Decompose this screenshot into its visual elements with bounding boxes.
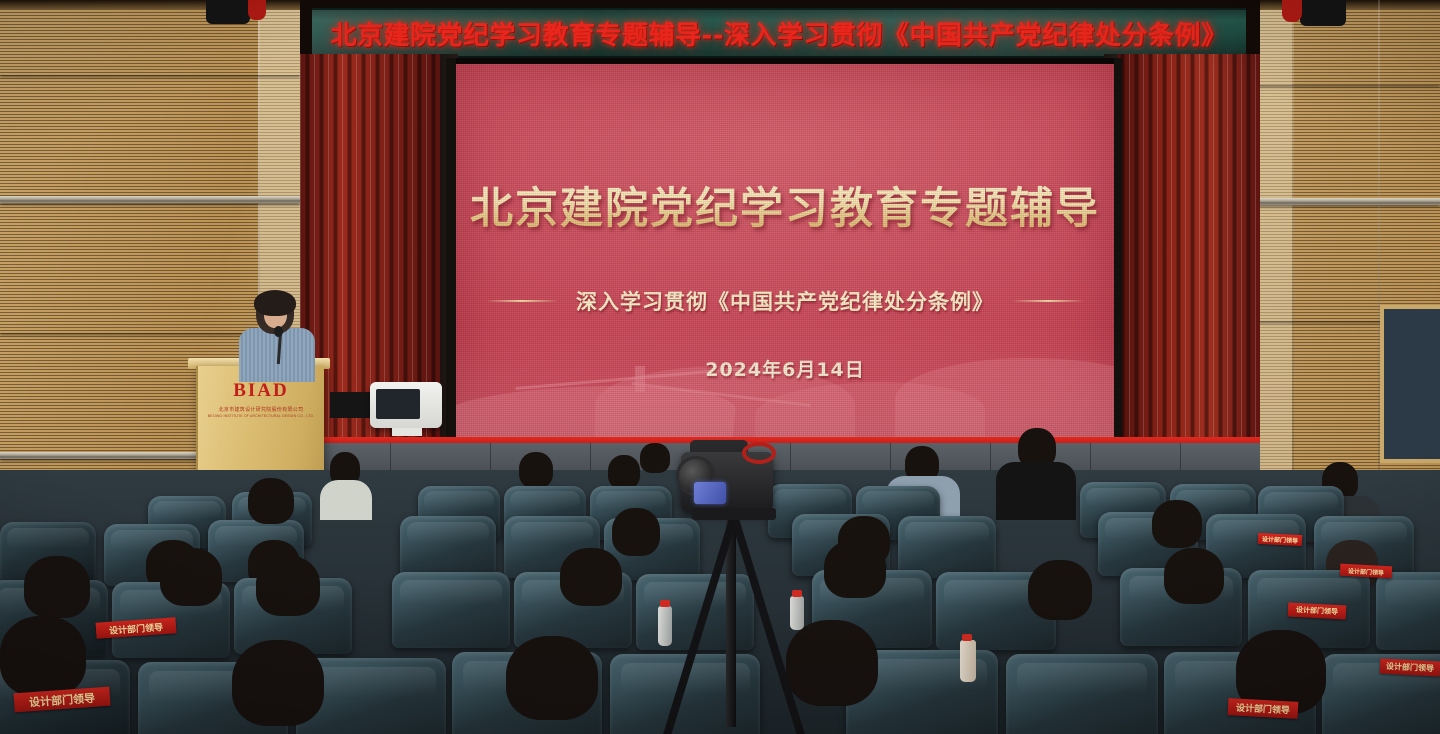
water-bottle [658, 606, 672, 646]
wall-trim [0, 68, 300, 75]
seat-tag: 设计部门领导 [1288, 602, 1347, 619]
water-bottle-cap [792, 590, 802, 597]
seat [1376, 572, 1440, 650]
audience-person [24, 556, 90, 618]
podium-logo: BIAD [198, 380, 324, 402]
audience-person [248, 478, 294, 524]
wall-framed-panel [1380, 305, 1440, 463]
seat [392, 572, 510, 648]
audience-person [612, 508, 660, 556]
slide-rule-left [486, 300, 558, 302]
audience-person [640, 443, 670, 473]
audience-person [824, 540, 886, 598]
ceiling-light-left-accent [248, 0, 266, 20]
audience-person [256, 556, 320, 616]
audience-person [1152, 500, 1202, 548]
seat [400, 516, 496, 578]
seat-tag: 设计部门领导 [1258, 533, 1303, 546]
camera-viewfinder [694, 482, 726, 504]
seat-tag: 设计部门领导 [1228, 698, 1299, 719]
audience-person-body [320, 480, 372, 520]
seat-tag: 设计部门领导 [1380, 658, 1440, 676]
led-screen-slide: 北京建院党纪学习教育专题辅导 深入学习贯彻《中国共产党纪律处分条例》 2024年… [455, 64, 1115, 444]
wall-trim [1258, 78, 1440, 85]
audience-person [160, 548, 222, 606]
audience-person-front [506, 636, 598, 720]
water-bottle-cap [962, 634, 972, 641]
seat [1006, 654, 1158, 734]
slide-subtitle-row: 深入学习贯彻《中国共产党纪律处分条例》 [455, 286, 1115, 316]
slide-rule-right [1012, 300, 1084, 302]
water-bottle [790, 596, 804, 630]
audience-person-front [786, 620, 878, 706]
auditorium-photo: 北京建院党纪学习教育专题辅导--深入学习贯彻《中国共产党纪律处分条例》 北京建院… [0, 0, 1440, 734]
seat [898, 516, 996, 578]
slide-date: 2024年6月14日 [455, 355, 1115, 382]
ceiling-light-right-accent [1282, 0, 1302, 22]
podium-org-en: BEIJING INSTITUTE OF ARCHITECTURAL DESIG… [198, 414, 324, 418]
audience-person-front [232, 640, 324, 726]
water-bottle-cap [660, 600, 670, 607]
audience-person [519, 452, 553, 488]
water-bottle [960, 640, 976, 682]
audience-person [1028, 560, 1092, 620]
podium-org-cn: 北京市建筑设计研究院股份有限公司 [198, 406, 324, 413]
stage-monitor-stand [392, 428, 422, 436]
audience-person-body [996, 462, 1076, 520]
audience-person [560, 548, 622, 606]
stage-curtain-right [1115, 54, 1260, 474]
microphone-head [274, 326, 283, 337]
slide-subtitle: 深入学习贯彻《中国共产党纪律处分条例》 [576, 286, 994, 316]
wall-trim [0, 196, 300, 203]
event-banner-text: 北京建院党纪学习教育专题辅导--深入学习贯彻《中国共产党纪律处分条例》 [330, 15, 1227, 52]
screen-mask-right [1114, 58, 1122, 444]
audience-person [608, 455, 640, 489]
wall-trim [1258, 198, 1440, 205]
ceiling-light-right [1300, 0, 1346, 26]
stage-equipment-box [330, 392, 374, 418]
tripod-head [692, 508, 776, 520]
event-banner: 北京建院党纪学习教育专题辅导--深入学习贯彻《中国共产党纪律处分条例》 [312, 8, 1246, 58]
camera-handle [742, 442, 776, 464]
ceiling-light-left [206, 0, 250, 24]
stage-monitor-screen [376, 389, 420, 419]
audience-person [1164, 548, 1224, 604]
speaker-hair [254, 290, 296, 316]
slide-title: 北京建院党纪学习教育专题辅导 [455, 174, 1115, 236]
screen-mask-left [446, 58, 456, 444]
audience-person-front [0, 616, 86, 696]
